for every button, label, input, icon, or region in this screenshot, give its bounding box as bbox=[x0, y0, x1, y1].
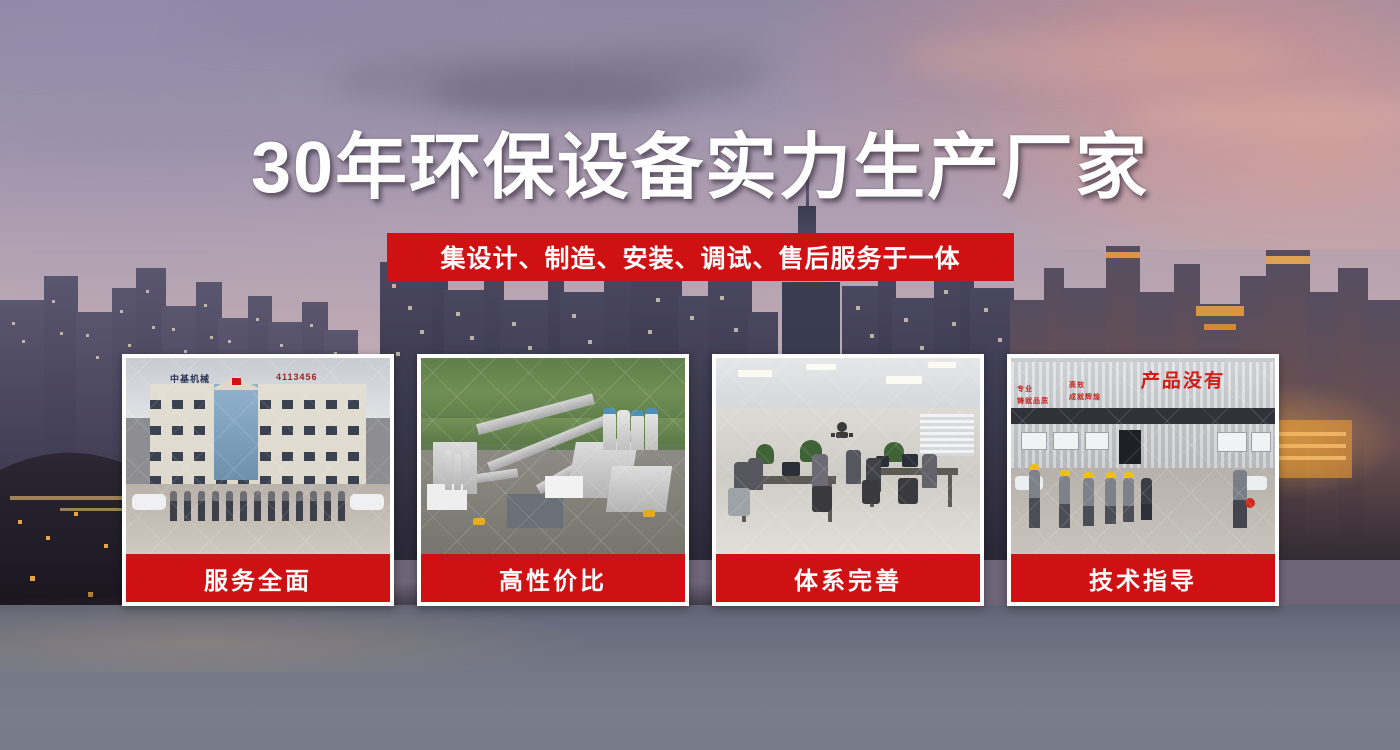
card-caption-bar: 体系完善 bbox=[716, 554, 980, 602]
factory-sign-small: 高效 bbox=[1069, 380, 1085, 390]
building-sign-text: 中基机械 bbox=[170, 372, 210, 385]
factory-sign-small: 铸就品质 bbox=[1017, 396, 1049, 406]
feature-card[interactable]: 产品没有 专业 铸就品质 高效 成就辉煌 bbox=[1007, 354, 1279, 606]
hero-banner: 30年环保设备实力生产厂家 集设计、制造、安装、调试、售后服务于一体 bbox=[0, 0, 1400, 750]
card-caption-bar: 服务全面 bbox=[126, 554, 390, 602]
feature-card[interactable]: 体系完善 bbox=[712, 354, 984, 606]
card-caption-text: 高性价比 bbox=[499, 561, 607, 596]
card-caption-text: 技术指导 bbox=[1089, 561, 1197, 596]
subtitle-text: 集设计、制造、安装、调试、售后服务于一体 bbox=[440, 239, 960, 275]
card-caption-text: 服务全面 bbox=[204, 561, 312, 596]
page-title: 30年环保设备实力生产厂家 bbox=[0, 132, 1400, 204]
subtitle-banner: 集设计、制造、安装、调试、售后服务于一体 bbox=[387, 233, 1014, 281]
card-caption-bar: 高性价比 bbox=[421, 554, 685, 602]
feature-card[interactable]: 高性价比 bbox=[417, 354, 689, 606]
factory-sign-text: 产品没有 bbox=[1140, 366, 1225, 393]
feature-card[interactable]: 中基机械 4113456 bbox=[122, 354, 394, 606]
building-phone-text: 4113456 bbox=[276, 372, 318, 382]
card-photo-workers: 产品没有 专业 铸就品质 高效 成就辉煌 bbox=[1011, 358, 1275, 554]
card-photo-plant bbox=[421, 358, 685, 554]
card-photo-office bbox=[716, 358, 980, 554]
factory-sign-small: 成就辉煌 bbox=[1069, 392, 1101, 402]
feature-card-list: 中基机械 4113456 bbox=[122, 354, 1279, 606]
card-photo-service: 中基机械 4113456 bbox=[126, 358, 390, 554]
factory-sign-small: 专业 bbox=[1017, 384, 1033, 394]
card-caption-bar: 技术指导 bbox=[1011, 554, 1275, 602]
card-caption-text: 体系完善 bbox=[794, 561, 902, 596]
